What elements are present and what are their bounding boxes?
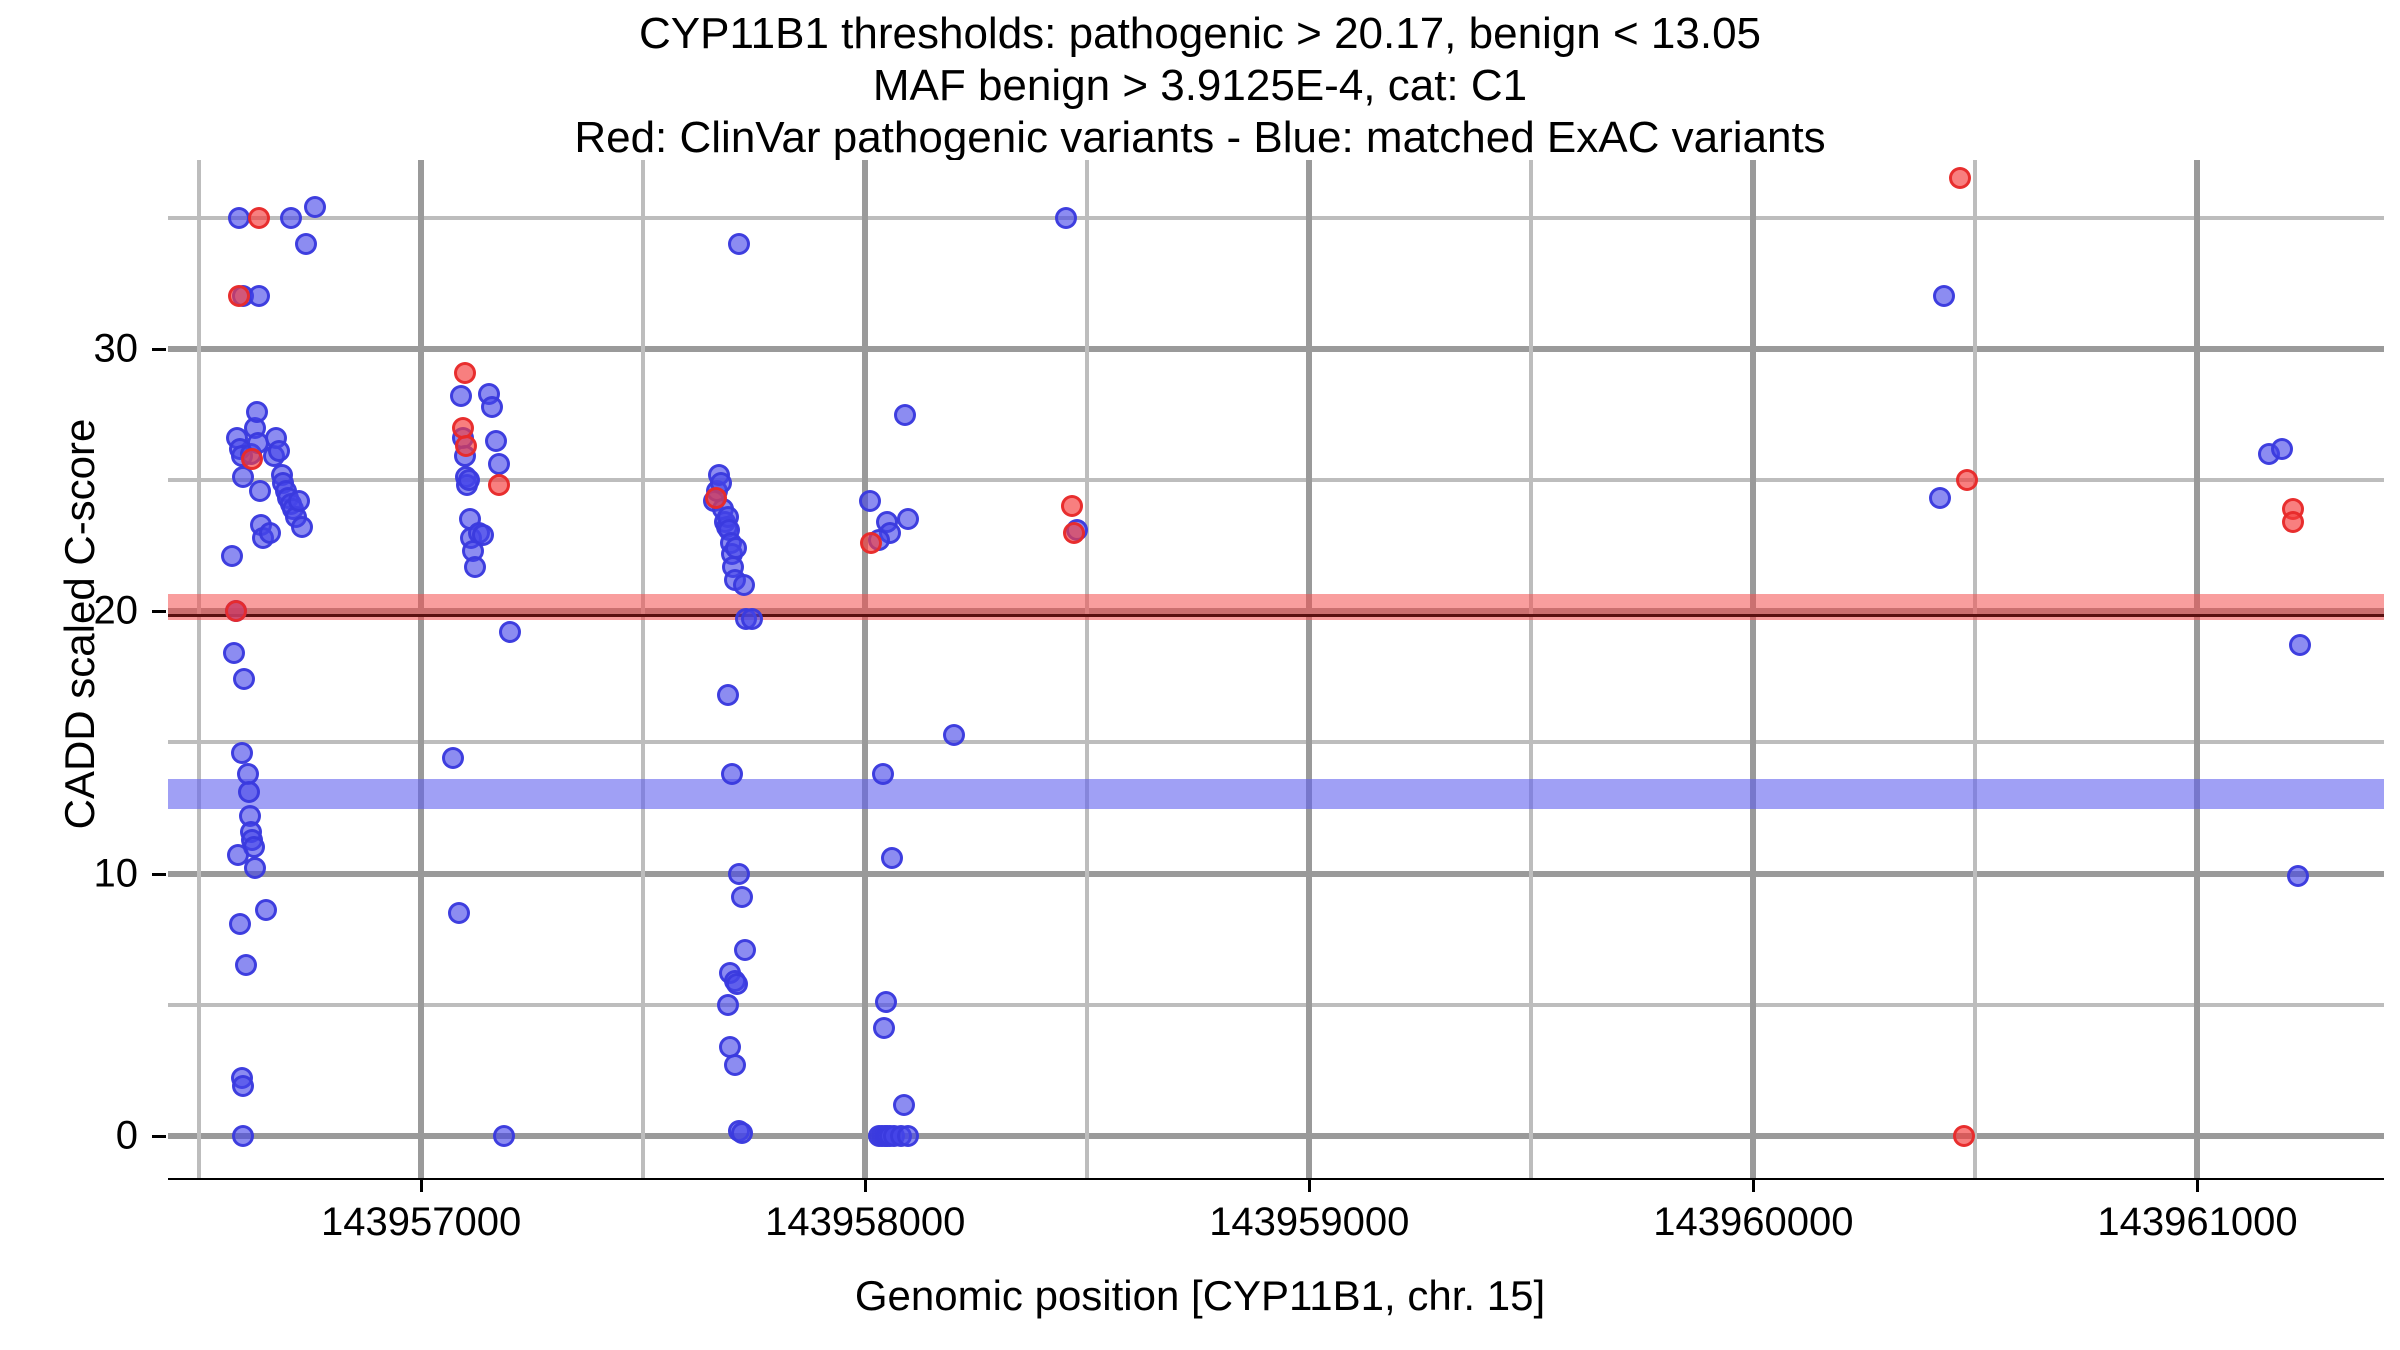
point-exac [246, 401, 268, 423]
point-exac [280, 207, 302, 229]
gridline-minor-horizontal [168, 740, 2384, 744]
gridline-major-vertical [1306, 160, 1312, 1178]
plot-area [168, 160, 2384, 1178]
y-tick-mark [152, 610, 166, 613]
point-exac [288, 490, 310, 512]
x-axis-title: Genomic position [CYP11B1, chr. 15] [0, 1272, 2400, 1320]
point-exac [232, 1075, 254, 1097]
x-axis-line [168, 1178, 2384, 1180]
point-exac [943, 724, 965, 746]
point-exac [248, 285, 270, 307]
point-exac [221, 545, 243, 567]
x-tick-mark [864, 1178, 867, 1192]
point-exac [872, 763, 894, 785]
point-exac [235, 954, 257, 976]
point-exac [733, 574, 755, 596]
point-exac [472, 524, 494, 546]
point-exac [897, 1125, 919, 1147]
point-exac [1933, 285, 1955, 307]
point-exac [725, 537, 747, 559]
point-exac [897, 508, 919, 530]
chart-title: CYP11B1 thresholds: pathogenic > 20.17, … [0, 8, 2400, 164]
x-tick-label: 143960000 [1653, 1200, 1853, 1245]
point-exac [731, 886, 753, 908]
gridline-minor-vertical [1529, 160, 1533, 1178]
x-tick-mark [1308, 1178, 1311, 1192]
title-line-1: CYP11B1 thresholds: pathogenic > 20.17, … [0, 8, 2400, 60]
gridline-major-vertical [2194, 160, 2200, 1178]
point-exac [721, 763, 743, 785]
threshold-band-benign [168, 779, 2384, 809]
point-exac [728, 863, 750, 885]
point-exac [229, 913, 251, 935]
point-exac [259, 522, 281, 544]
gridline-minor-horizontal [168, 216, 2384, 220]
point-exac [233, 668, 255, 690]
title-line-3: Red: ClinVar pathogenic variants - Blue:… [0, 112, 2400, 164]
point-exac [481, 396, 503, 418]
point-exac [731, 1122, 753, 1144]
point-exac [724, 1054, 746, 1076]
x-tick-label: 143961000 [2097, 1200, 2297, 1245]
point-exac [859, 490, 881, 512]
point-pathogenic [454, 362, 476, 384]
point-exac [1055, 207, 1077, 229]
point-exac [450, 385, 472, 407]
point-exac [232, 1125, 254, 1147]
point-exac [488, 453, 510, 475]
scatter-plot-figure: CYP11B1 thresholds: pathogenic > 20.17, … [0, 0, 2400, 1350]
x-tick-label: 143958000 [765, 1200, 965, 1245]
x-tick-label: 143959000 [1209, 1200, 1409, 1245]
gridline-major-horizontal [168, 346, 2384, 352]
point-pathogenic [1956, 469, 1978, 491]
point-pathogenic [248, 207, 270, 229]
point-exac [2289, 634, 2311, 656]
point-exac [485, 430, 507, 452]
point-exac [223, 642, 245, 664]
gridline-minor-vertical [197, 160, 201, 1178]
y-tick-label: 10 [38, 851, 138, 896]
point-exac [741, 608, 763, 630]
y-tick-mark [152, 873, 166, 876]
gridline-minor-horizontal [168, 1003, 2384, 1007]
point-exac [268, 440, 290, 462]
point-pathogenic [1063, 522, 1085, 544]
point-exac [893, 1094, 915, 1116]
point-exac [255, 899, 277, 921]
point-exac [228, 207, 250, 229]
point-exac [894, 404, 916, 426]
gridline-minor-vertical [1085, 160, 1089, 1178]
y-tick-label: 0 [38, 1114, 138, 1159]
point-exac [726, 973, 748, 995]
point-exac [734, 939, 756, 961]
point-exac [717, 684, 739, 706]
gridline-minor-vertical [641, 160, 645, 1178]
gridline-major-horizontal [168, 871, 2384, 877]
point-pathogenic [225, 600, 247, 622]
point-pathogenic [1953, 1125, 1975, 1147]
point-exac [728, 233, 750, 255]
gridline-major-vertical [862, 160, 868, 1178]
point-exac [304, 196, 326, 218]
y-tick-mark [152, 1135, 166, 1138]
y-tick-label: 20 [38, 589, 138, 634]
x-tick-mark [420, 1178, 423, 1192]
gridline-minor-vertical [1973, 160, 1977, 1178]
point-exac [873, 1017, 895, 1039]
point-exac [881, 847, 903, 869]
point-exac [291, 516, 313, 538]
point-exac [717, 994, 739, 1016]
gridline-major-vertical [418, 160, 424, 1178]
x-tick-mark [2196, 1178, 2199, 1192]
gridline-major-vertical [1750, 160, 1756, 1178]
point-exac [295, 233, 317, 255]
point-pathogenic [2282, 511, 2304, 533]
point-exac [442, 747, 464, 769]
x-tick-label: 143957000 [321, 1200, 521, 1245]
point-pathogenic [1061, 495, 1083, 517]
point-exac [249, 480, 271, 502]
point-exac [499, 621, 521, 643]
point-pathogenic [488, 474, 510, 496]
point-pathogenic [241, 448, 263, 470]
point-exac [875, 991, 897, 1013]
point-exac [2271, 438, 2293, 460]
threshold-line-pathogenic [168, 614, 2384, 617]
point-exac [238, 781, 260, 803]
x-tick-mark [1752, 1178, 1755, 1192]
title-line-2: MAF benign > 3.9125E-4, cat: C1 [0, 60, 2400, 112]
point-exac [1929, 487, 1951, 509]
y-tick-mark [152, 348, 166, 351]
point-pathogenic [1949, 167, 1971, 189]
point-exac [493, 1125, 515, 1147]
point-exac [464, 556, 486, 578]
point-exac [2287, 865, 2309, 887]
point-pathogenic [860, 532, 882, 554]
point-exac [458, 469, 480, 491]
y-tick-label: 30 [38, 326, 138, 371]
point-exac [231, 742, 253, 764]
point-exac [448, 902, 470, 924]
